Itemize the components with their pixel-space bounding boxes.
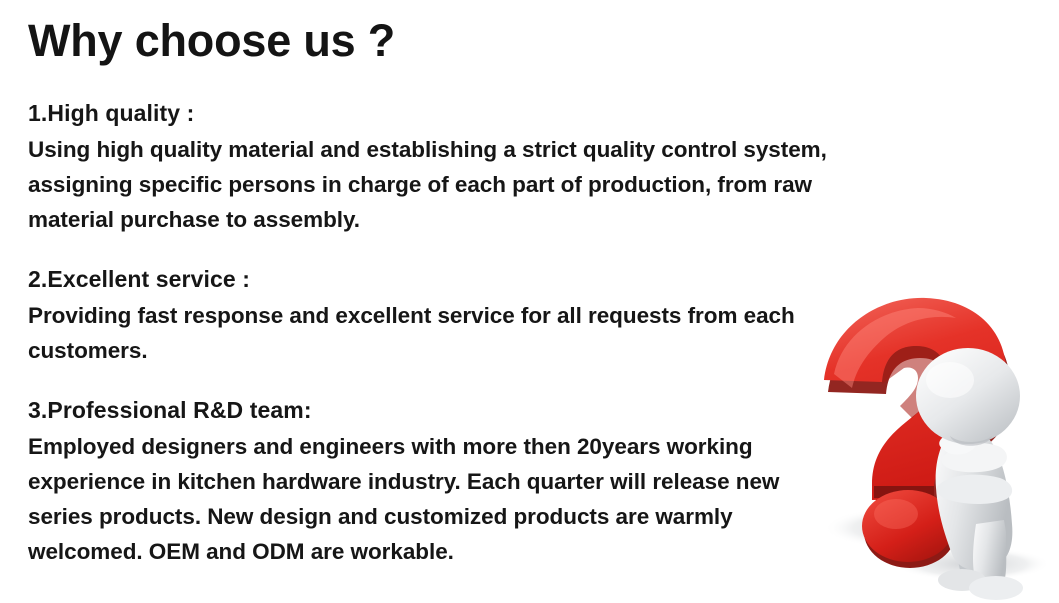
section-2-heading: 2.Excellent service : — [28, 263, 908, 295]
section-excellent-service: 2.Excellent service : Providing fast res… — [28, 237, 908, 368]
section-2-body: Providing fast response and excellent se… — [28, 298, 908, 368]
section-professional-rd-team: 3.Professional R&D team: Employed design… — [28, 368, 908, 569]
section-1-heading: 1.High quality : — [28, 97, 908, 129]
section-3-line-3: series products. New design and customiz… — [28, 499, 908, 534]
section-3-heading: 3.Professional R&D team: — [28, 394, 908, 426]
section-1-body: Using high quality material and establis… — [28, 132, 908, 237]
page-title: Why choose us ? — [28, 0, 908, 63]
section-3-line-4: welcomed. OEM and ODM are workable. — [28, 534, 908, 569]
section-1-line-3: material purchase to assembly. — [28, 202, 908, 237]
section-1-line-2: assigning specific persons in charge of … — [28, 167, 908, 202]
content-column: Why choose us ? 1.High quality : Using h… — [28, 0, 908, 603]
section-3-line-2: experience in kitchen hardware industry.… — [28, 464, 908, 499]
section-2-line-2: customers. — [28, 333, 908, 368]
slide-canvas: Why choose us ? 1.High quality : Using h… — [0, 0, 1059, 603]
section-high-quality: 1.High quality : Using high quality mate… — [28, 63, 908, 237]
section-3-body: Employed designers and engineers with mo… — [28, 429, 908, 569]
section-3-line-1: Employed designers and engineers with mo… — [28, 429, 908, 464]
section-2-line-1: Providing fast response and excellent se… — [28, 298, 908, 333]
section-1-line-1: Using high quality material and establis… — [28, 132, 908, 167]
